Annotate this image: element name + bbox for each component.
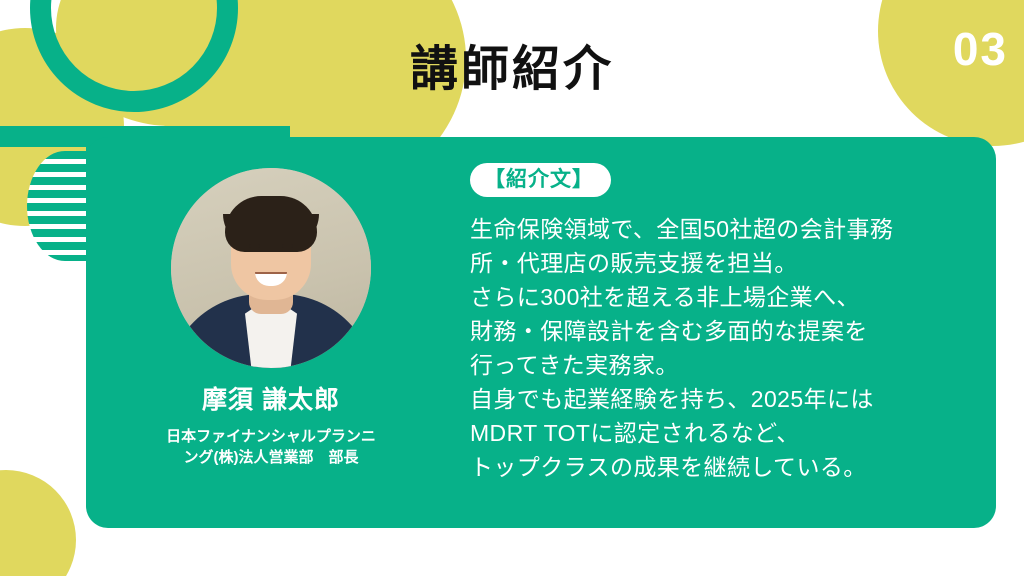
instructor-affiliation: 日本ファイナンシャルプランニ ング(株)法人営業部 部長	[121, 426, 421, 470]
instructor-card: 摩須 謙太郎 日本ファイナンシャルプランニ ング(株)法人営業部 部長 【紹介文…	[86, 137, 996, 528]
intro-body-text: 生命保険領域で、全国50社超の会計事務 所・代理店の販売支援を担当。 さらに30…	[470, 212, 974, 484]
intro-column: 【紹介文】 生命保険領域で、全国50社超の会計事務 所・代理店の販売支援を担当。…	[456, 137, 996, 528]
avatar	[171, 168, 371, 368]
circle-yellow-icon	[0, 470, 76, 576]
intro-badge: 【紹介文】	[470, 163, 611, 197]
portrait-eye-left	[249, 244, 260, 248]
page-title: 講師紹介	[0, 44, 1024, 97]
instructor-name: 摩須 謙太郎	[202, 387, 340, 415]
slide-root: 03 講師紹介 摩須 謙太郎 日本ファイナンシャルプランニ ング(株)法人営業部…	[0, 0, 1024, 576]
portrait-hair	[225, 196, 317, 252]
profile-column: 摩須 謙太郎 日本ファイナンシャルプランニ ング(株)法人営業部 部長	[86, 137, 456, 528]
portrait-eye-right	[282, 244, 293, 248]
